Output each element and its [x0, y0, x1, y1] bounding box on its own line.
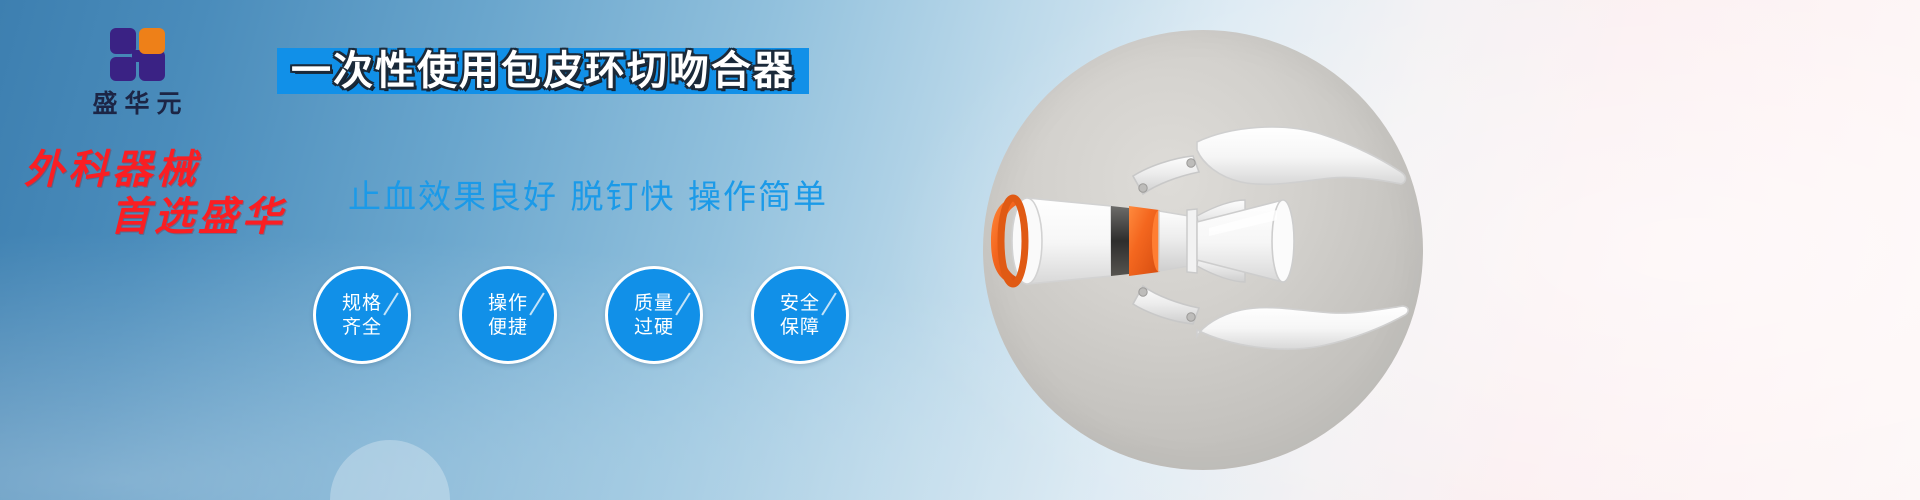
slogan-line-2: 首选盛华	[110, 197, 364, 238]
product-image	[983, 30, 1423, 470]
product-subtitle: 止血效果良好 脱钉快 操作简单	[348, 170, 828, 218]
promotional-banner: 盛华元 外科器械 首选盛华 一次性使用包皮环切吻合器 止血效果良好 脱钉快 操作…	[0, 0, 1920, 500]
feature-badge-line-2: 过硬	[634, 315, 674, 339]
badge-slash-decoration	[383, 292, 398, 315]
product-title-bar: 一次性使用包皮环切吻合器	[277, 48, 809, 94]
badge-slash-decoration	[529, 292, 544, 315]
logo-square-top-right-accent	[139, 28, 165, 54]
feature-badge-line-2: 便捷	[488, 315, 528, 339]
brand-logo-block[interactable]: 盛华元	[62, 26, 212, 118]
slogan-line-1: 外科器械	[24, 150, 364, 191]
feature-badge-line-1: 安全	[780, 291, 820, 315]
feature-badge[interactable]: 操作 便捷	[459, 266, 557, 364]
company-name: 盛华元	[62, 90, 212, 118]
feature-badge[interactable]: 安全 保障	[751, 266, 849, 364]
feature-badge-line-2: 齐全	[342, 315, 382, 339]
badge-slash-decoration	[821, 292, 836, 315]
feature-badge-line-1: 规格	[342, 291, 382, 315]
decorative-bubble	[330, 440, 450, 500]
feature-badge-line-1: 质量	[634, 291, 674, 315]
logo-square-bottom-right	[139, 50, 165, 81]
company-logo-icon	[106, 26, 168, 82]
brand-slogan: 外科器械 首选盛华	[24, 150, 364, 238]
feature-badge[interactable]: 质量 过硬	[605, 266, 703, 364]
logo-square-bottom-left	[110, 57, 136, 81]
product-title: 一次性使用包皮环切吻合器	[291, 51, 795, 91]
circumcision-stapler-illustration	[983, 30, 1423, 470]
feature-badge[interactable]: 规格 齐全	[313, 266, 411, 364]
feature-badge-line-1: 操作	[488, 291, 528, 315]
feature-badge-line-2: 保障	[780, 315, 820, 339]
badge-slash-decoration	[675, 292, 690, 315]
feature-badge-list: 规格 齐全 操作 便捷 质量 过硬 安全 保障	[313, 266, 849, 364]
